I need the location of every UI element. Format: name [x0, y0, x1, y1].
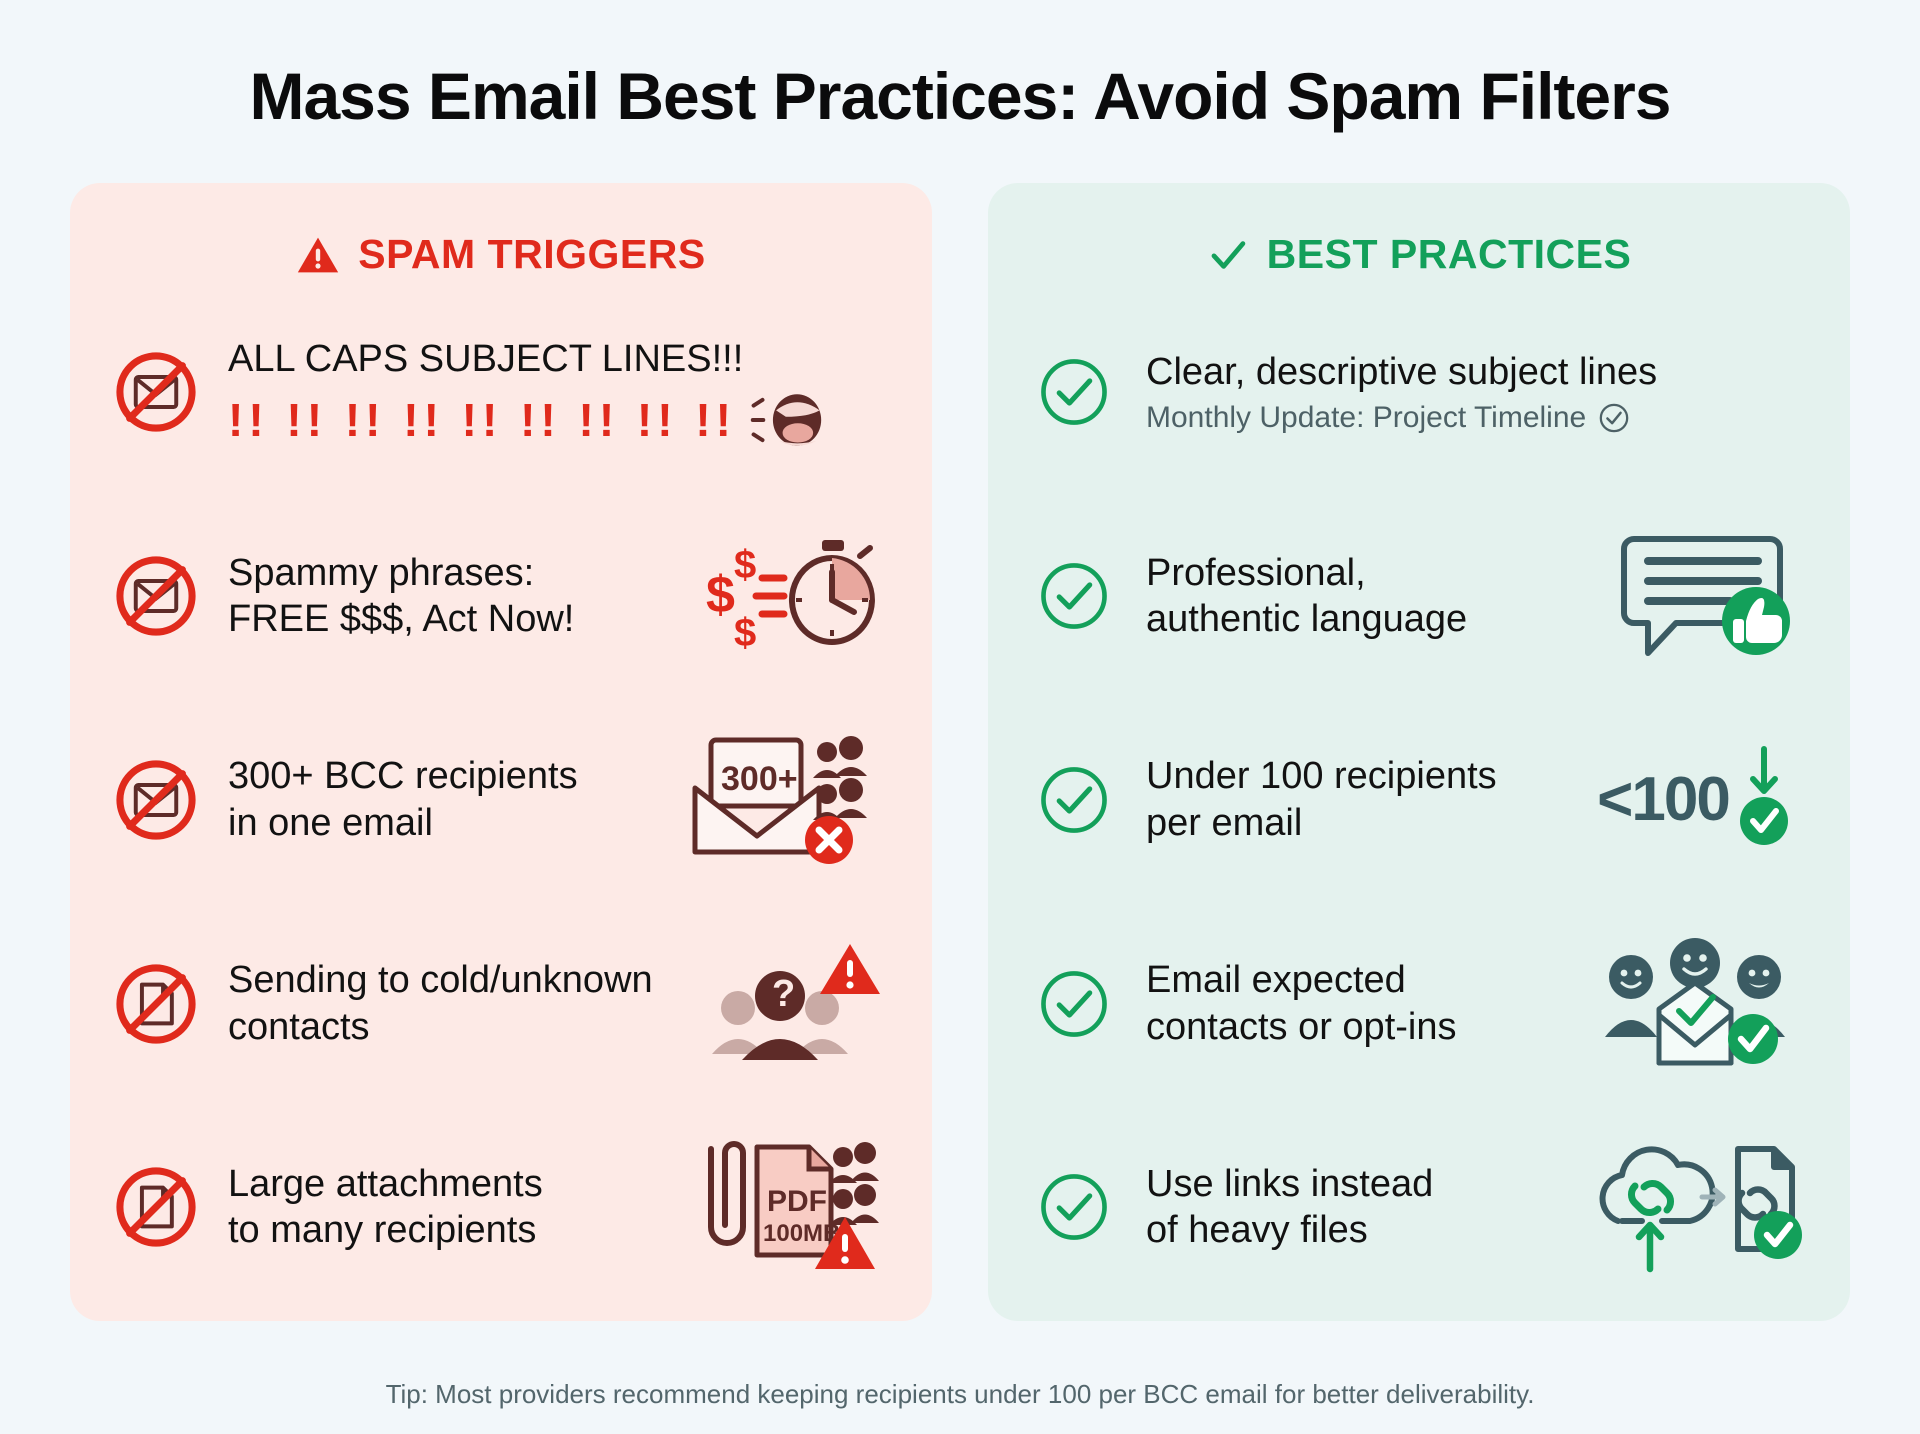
list-item-text: Sending to cold/unknown contacts [228, 957, 666, 1050]
warning-triangle-icon [296, 233, 340, 277]
spam-triggers-list: ALL CAPS SUBJECT LINES!!! !! !! !! !! !!… [110, 312, 892, 1287]
speech-bubble-thumbs-up-icon [1610, 526, 1810, 666]
envelope-300-plus-icon: 300+ [662, 730, 892, 870]
exclamation-marks-label: !! !! !! !! !! !! !! !! !! [228, 397, 736, 443]
list-item: Email expected contacts or opt-ins [1028, 924, 1810, 1084]
no-email-icon [110, 346, 202, 438]
check-circle-icon [1028, 958, 1120, 1050]
svg-text:$: $ [706, 566, 735, 624]
svg-text:$: $ [734, 543, 756, 587]
spam-triggers-heading: SPAM TRIGGERS [110, 231, 892, 278]
best-practices-heading-label: BEST PRACTICES [1267, 231, 1632, 278]
list-item-label: Sending to cold/unknown contacts [228, 957, 666, 1050]
best-practices-heading: BEST PRACTICES [1028, 231, 1810, 278]
list-item-text: Large attachments to many recipients [228, 1161, 636, 1254]
no-email-icon [110, 550, 202, 642]
list-item: Spammy phrases: FREE $$$, Act Now! $ $ $ [110, 516, 892, 676]
unknown-contacts-warning-icon: ? [692, 934, 892, 1074]
less-than-100-icon: <100 [1580, 730, 1810, 870]
list-item-text: Professional, authentic language [1146, 550, 1584, 643]
subject-line-example-label: Monthly Update: Project Timeline [1146, 401, 1586, 435]
recipient-limit-label: <100 [1597, 769, 1729, 831]
list-item-label: Large attachments to many recipients [228, 1161, 636, 1254]
list-item: Under 100 recipients per email <100 [1028, 720, 1810, 880]
shouting-mouth-icon [752, 392, 826, 448]
check-circle-icon [1028, 1161, 1120, 1253]
svg-text:$: $ [734, 611, 756, 655]
list-item-label: Professional, authentic language [1146, 550, 1584, 643]
list-item-label: Under 100 recipients per email [1146, 753, 1554, 846]
list-item-label: Spammy phrases: FREE $$$, Act Now! [228, 550, 666, 643]
check-circle-icon [1028, 550, 1120, 642]
list-item-text: Clear, descriptive subject lines Monthly… [1146, 349, 1810, 435]
list-item-text: Spammy phrases: FREE $$$, Act Now! [228, 550, 666, 643]
pdf-size-label: 100MB [763, 1220, 840, 1247]
best-practices-list: Clear, descriptive subject lines Monthly… [1028, 312, 1810, 1287]
check-circle-outline-icon [1598, 402, 1630, 434]
list-item-text: ALL CAPS SUBJECT LINES!!! !! !! !! !! !!… [228, 336, 892, 448]
exclamation-marks-row: !! !! !! !! !! !! !! !! !! [228, 392, 892, 448]
subject-line-example: Monthly Update: Project Timeline [1146, 401, 1810, 435]
no-document-icon [110, 1161, 202, 1253]
list-item: Clear, descriptive subject lines Monthly… [1028, 312, 1810, 472]
list-item: 300+ BCC recipients in one email 300+ [110, 720, 892, 880]
pdf-label: PDF [767, 1185, 827, 1218]
cloud-link-file-icon [1580, 1137, 1810, 1277]
spam-triggers-heading-label: SPAM TRIGGERS [358, 231, 705, 278]
check-mark-icon [1207, 234, 1249, 276]
footer-tip: Tip: Most providers recommend keeping re… [70, 1353, 1850, 1434]
check-circle-icon [1028, 346, 1120, 438]
panels-container: SPAM TRIGGERS ALL CAPS SUBJECT LINE [70, 183, 1850, 1353]
list-item-label: 300+ BCC recipients in one email [228, 753, 636, 846]
page-title: Mass Email Best Practices: Avoid Spam Fi… [70, 62, 1850, 131]
list-item-text: Under 100 recipients per email [1146, 753, 1554, 846]
no-email-icon [110, 754, 202, 846]
list-item-label: Email expected contacts or opt-ins [1146, 957, 1554, 1050]
envelope-count-label: 300+ [721, 760, 798, 798]
dollar-stopwatch-icon: $ $ $ [692, 526, 892, 666]
check-circle-icon [1028, 754, 1120, 846]
list-item: Sending to cold/unknown contacts ? [110, 924, 892, 1084]
list-item-text: Use links instead of heavy files [1146, 1161, 1554, 1254]
list-item: ALL CAPS SUBJECT LINES!!! !! !! !! !! !!… [110, 312, 892, 472]
list-item: Professional, authentic language [1028, 516, 1810, 676]
list-item-label: Clear, descriptive subject lines [1146, 349, 1810, 395]
list-item-label: ALL CAPS SUBJECT LINES!!! [228, 336, 892, 382]
spam-triggers-panel: SPAM TRIGGERS ALL CAPS SUBJECT LINE [70, 183, 932, 1321]
list-item: Large attachments to many recipients PDF… [110, 1127, 892, 1287]
infographic-page: Mass Email Best Practices: Avoid Spam Fi… [0, 0, 1920, 1434]
best-practices-panel: BEST PRACTICES Clear, descriptive subjec… [988, 183, 1850, 1321]
pdf-attachment-warning-icon: PDF 100MB [662, 1137, 892, 1277]
happy-contacts-envelope-icon [1580, 934, 1810, 1074]
svg-text:?: ? [772, 973, 795, 1015]
list-item: Use links instead of heavy files [1028, 1127, 1810, 1287]
list-item-text: Email expected contacts or opt-ins [1146, 957, 1554, 1050]
list-item-label: Use links instead of heavy files [1146, 1161, 1554, 1254]
no-document-icon [110, 958, 202, 1050]
list-item-text: 300+ BCC recipients in one email [228, 753, 636, 846]
